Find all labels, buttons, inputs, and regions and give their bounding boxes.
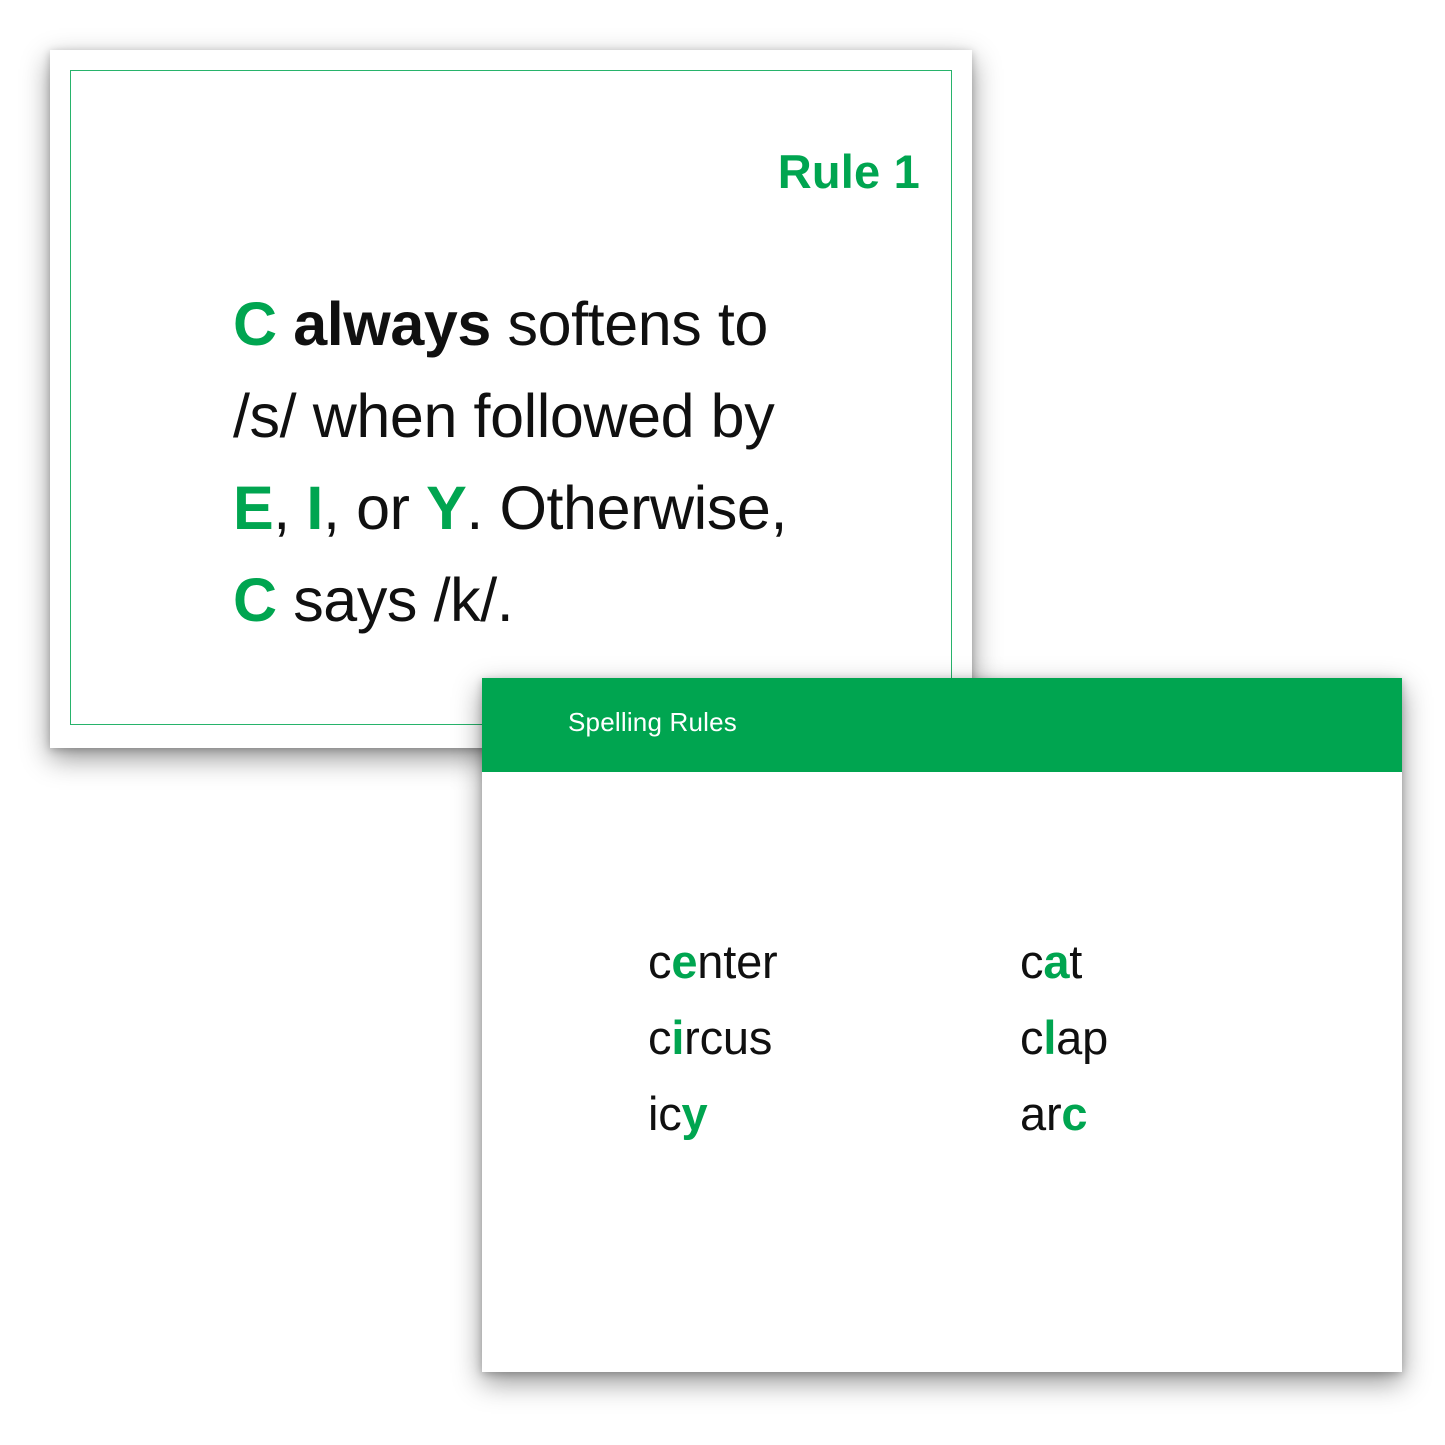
example-word: icy xyxy=(648,1076,777,1152)
examples-card: Spelling Rules centercircusicy catclapar… xyxy=(482,678,1402,1372)
text-segment: e xyxy=(671,935,697,988)
rule-body-text: C always softens to/s/ when followed byE… xyxy=(233,278,933,646)
text-segment: C xyxy=(233,290,277,358)
example-word: center xyxy=(648,924,777,1000)
example-word: circus xyxy=(648,1000,777,1076)
text-segment: i xyxy=(671,1011,684,1064)
text-segment: l xyxy=(1043,1011,1056,1064)
example-word: cat xyxy=(1020,924,1108,1000)
text-segment: y xyxy=(682,1087,708,1140)
slide-canvas: Rule 1 C always softens to/s/ when follo… xyxy=(0,0,1445,1445)
text-segment: /s/ when followed by xyxy=(233,382,774,450)
rule-body-line: C always softens to xyxy=(233,278,933,370)
example-word: arc xyxy=(1020,1076,1108,1152)
text-segment: c xyxy=(1020,1011,1043,1064)
text-segment: ic xyxy=(648,1087,682,1140)
text-segment: , or xyxy=(323,474,426,542)
text-segment: says /k/. xyxy=(277,566,514,634)
text-segment: a xyxy=(1043,935,1069,988)
text-segment: . Otherwise, xyxy=(466,474,787,542)
examples-card-title: Spelling Rules xyxy=(568,709,737,735)
text-segment: ap xyxy=(1056,1011,1108,1064)
text-segment: Y xyxy=(426,474,466,542)
text-segment: nter xyxy=(697,935,777,988)
rule-body-line: C says /k/. xyxy=(233,554,933,646)
text-segment: c xyxy=(1061,1087,1087,1140)
text-segment: , xyxy=(273,474,306,542)
text-segment: c xyxy=(1020,935,1043,988)
text-segment xyxy=(277,290,294,358)
text-segment: E xyxy=(233,474,273,542)
examples-card-header-bar: Spelling Rules xyxy=(482,678,1402,772)
word-column-hard-c: catclaparc xyxy=(1020,924,1108,1152)
rule-body-line: E, I, or Y. Otherwise, xyxy=(233,462,933,554)
rule-body-line: /s/ when followed by xyxy=(233,370,933,462)
text-segment: I xyxy=(306,474,323,542)
examples-card-body: centercircusicy catclaparc xyxy=(482,772,1402,1372)
text-segment: C xyxy=(233,566,277,634)
rule-card: Rule 1 C always softens to/s/ when follo… xyxy=(50,50,972,748)
example-word: clap xyxy=(1020,1000,1108,1076)
text-segment: always xyxy=(293,290,491,358)
rule-number-heading: Rule 1 xyxy=(778,148,920,195)
text-segment: c xyxy=(648,935,671,988)
text-segment: t xyxy=(1069,935,1082,988)
text-segment: ar xyxy=(1020,1087,1061,1140)
text-segment: rcus xyxy=(684,1011,772,1064)
word-column-soft-c: centercircusicy xyxy=(648,924,777,1152)
text-segment: c xyxy=(648,1011,671,1064)
text-segment: softens to xyxy=(491,290,768,358)
